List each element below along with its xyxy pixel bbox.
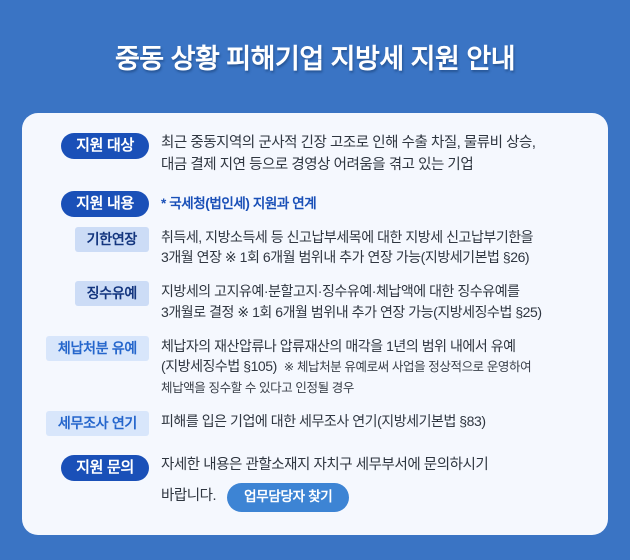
row-collection-deferral: 징수유예 지방세의 고지유예·분할고지·징수유예·체납액에 대한 징수유예를 3… xyxy=(38,280,592,322)
content-support-target: 최근 중동지역의 군사적 긴장 고조로 인해 수출 차질, 물류비 상승, 대금… xyxy=(149,132,592,177)
label-col-support-content: 지원 내용 xyxy=(38,190,149,217)
deadline-extension-line-2: 3개월 연장 ※ 1회 6개월 범위내 추가 연장 가능(지방세기본법 §26) xyxy=(161,247,592,267)
content-delinquency-deferral: 체납자의 재산압류나 압류재산의 매각을 1년의 범위 내에서 유예 (지방세징… xyxy=(149,335,592,397)
delinquency-deferral-line-2: (지방세징수법 §105)※ 체납처분 유예로써 사업을 정상적으로 운영하여 xyxy=(161,356,592,376)
row-support-content: 지원 내용 * 국세청(법인세) 지원과 연계 xyxy=(38,190,592,217)
row-audit-postponement: 세무조사 연기 피해를 입은 기업에 대한 세무조사 연기(지방세기본법 §83… xyxy=(38,410,592,436)
label-col-support-target: 지원 대상 xyxy=(38,132,149,159)
content-deadline-extension: 취득세, 지방소득세 등 신고납부세목에 대한 지방세 신고납부기한을 3개월 … xyxy=(149,226,592,268)
find-officer-button[interactable]: 업무담당자 찾기 xyxy=(227,483,349,512)
content-card: 지원 대상 최근 중동지역의 군사적 긴장 고조로 인해 수출 차질, 물류비 … xyxy=(22,113,608,535)
content-support-content: * 국세청(법인세) 지원과 연계 xyxy=(149,190,592,214)
support-content-note: * 국세청(법인세) 지원과 연계 xyxy=(161,191,592,214)
support-inquiry-line-2-wrap: 바랍니다. 업무담당자 찾기 xyxy=(161,483,592,512)
deadline-extension-line-1: 취득세, 지방소득세 등 신고납부세목에 대한 지방세 신고납부기한을 xyxy=(161,227,592,247)
delinquency-deferral-note-1: ※ 체납처분 유예로써 사업을 정상적으로 운영하여 xyxy=(284,360,531,374)
label-col-audit-postponement: 세무조사 연기 xyxy=(38,410,149,436)
label-col-collection-deferral: 징수유예 xyxy=(38,280,149,306)
badge-delinquency-deferral: 체납처분 유예 xyxy=(46,336,149,361)
delinquency-deferral-line-1: 체납자의 재산압류나 압류재산의 매각을 1년의 범위 내에서 유예 xyxy=(161,336,592,356)
title-bar: 중동 상황 피해기업 지방세 지원 안내 xyxy=(0,0,630,113)
support-inquiry-line-2: 바랍니다. xyxy=(161,486,216,508)
label-col-delinquency-deferral: 체납처분 유예 xyxy=(38,335,149,361)
content-audit-postponement: 피해를 입은 기업에 대한 세무조사 연기(지방세기본법 §83) xyxy=(149,410,592,431)
delinquency-deferral-note-2: 체납액을 징수할 수 있다고 인정될 경우 xyxy=(161,381,354,395)
row-support-target: 지원 대상 최근 중동지역의 군사적 긴장 고조로 인해 수출 차질, 물류비 … xyxy=(38,132,592,177)
poster-root: 중동 상황 피해기업 지방세 지원 안내 지원 대상 최근 중동지역의 군사적 … xyxy=(0,0,630,560)
badge-deadline-extension: 기한연장 xyxy=(75,227,149,252)
support-target-line-2: 대금 결제 지연 등으로 경영상 어려움을 겪고 있는 기업 xyxy=(161,155,592,177)
support-target-line-1: 최근 중동지역의 군사적 긴장 고조로 인해 수출 차질, 물류비 상승, xyxy=(161,133,592,155)
collection-deferral-line-1: 지방세의 고지유예·분할고지·징수유예·체납액에 대한 징수유예를 xyxy=(161,281,592,301)
badge-collection-deferral: 징수유예 xyxy=(75,281,149,306)
support-inquiry-line-1: 자세한 내용은 관할소재지 자치구 세무부서에 문의하시기 xyxy=(161,455,592,477)
delinquency-deferral-line-3: 체납액을 징수할 수 있다고 인정될 경우 xyxy=(161,377,592,397)
content-collection-deferral: 지방세의 고지유예·분할고지·징수유예·체납액에 대한 징수유예를 3개월로 결… xyxy=(149,280,592,322)
row-delinquency-deferral: 체납처분 유예 체납자의 재산압류나 압류재산의 매각을 1년의 범위 내에서 … xyxy=(38,335,592,397)
badge-audit-postponement: 세무조사 연기 xyxy=(46,411,149,436)
label-col-support-inquiry: 지원 문의 xyxy=(38,454,149,481)
audit-postponement-line-1: 피해를 입은 기업에 대한 세무조사 연기(지방세기본법 §83) xyxy=(161,411,592,431)
page-title: 중동 상황 피해기업 지방세 지원 안내 xyxy=(115,37,515,76)
collection-deferral-line-2: 3개월로 결정 ※ 1회 6개월 범위내 추가 연장 가능(지방세징수법 §25… xyxy=(161,302,592,322)
label-col-deadline-extension: 기한연장 xyxy=(38,226,149,252)
row-deadline-extension: 기한연장 취득세, 지방소득세 등 신고납부세목에 대한 지방세 신고납부기한을… xyxy=(38,226,592,268)
badge-support-content: 지원 내용 xyxy=(61,191,149,217)
content-support-inquiry: 자세한 내용은 관할소재지 자치구 세무부서에 문의하시기 바랍니다. 업무담당… xyxy=(149,454,592,512)
badge-support-inquiry: 지원 문의 xyxy=(61,455,149,481)
badge-support-target: 지원 대상 xyxy=(61,133,149,159)
delinquency-deferral-law-ref: (지방세징수법 §105) xyxy=(161,358,277,374)
row-support-inquiry: 지원 문의 자세한 내용은 관할소재지 자치구 세무부서에 문의하시기 바랍니다… xyxy=(38,454,592,512)
